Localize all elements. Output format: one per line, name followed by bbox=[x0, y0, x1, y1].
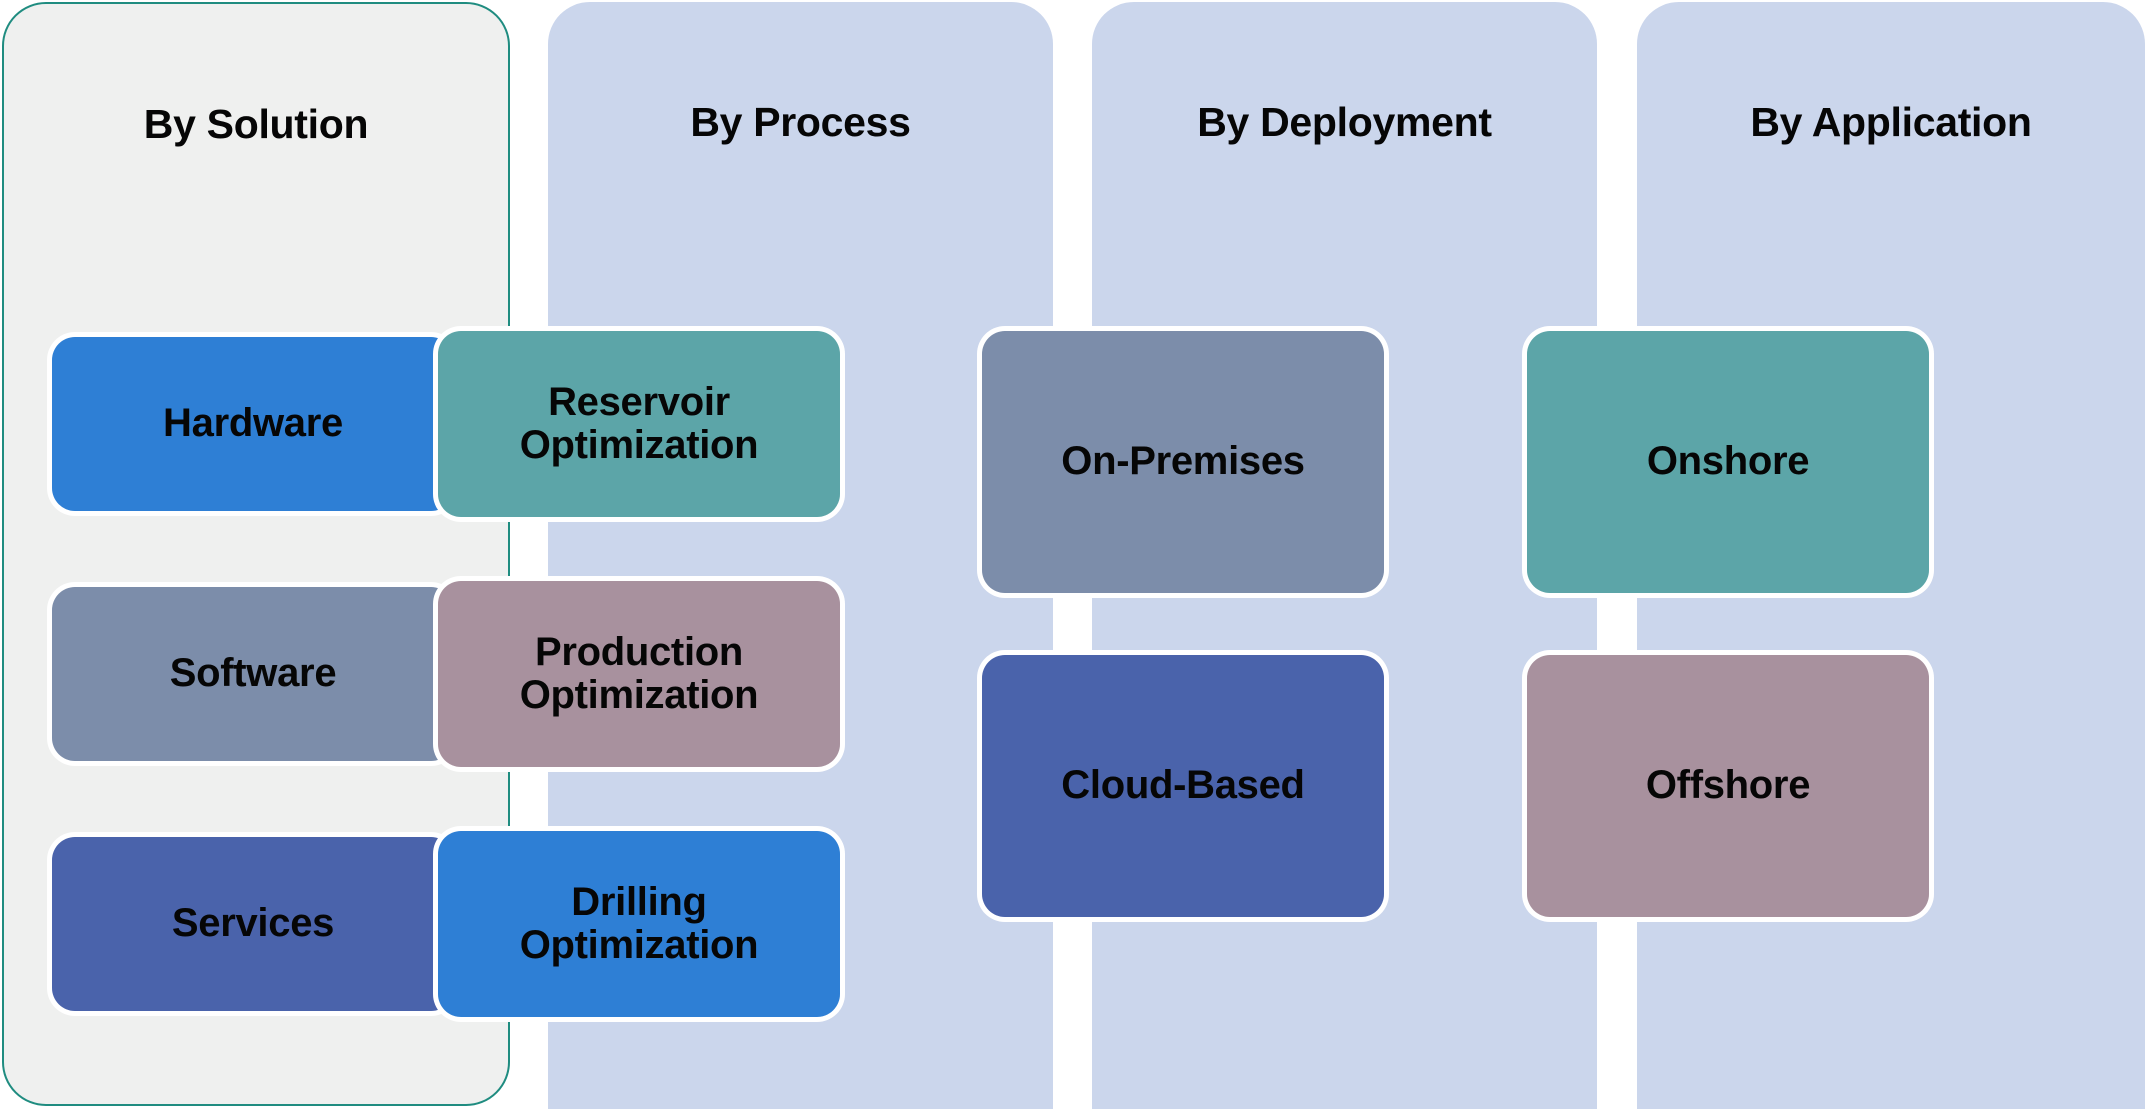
card-hardware[interactable]: Hardware bbox=[47, 332, 459, 516]
card-reservoir-optimization-fill: Reservoir Optimization bbox=[438, 331, 840, 517]
card-services-label: Services bbox=[172, 902, 334, 945]
card-cloud-based-fill: Cloud-Based bbox=[982, 655, 1384, 917]
card-drilling-optimization[interactable]: Drilling Optimization bbox=[433, 826, 845, 1022]
card-production-optimization-fill: Production Optimization bbox=[438, 581, 840, 767]
card-software-fill: Software bbox=[52, 587, 454, 761]
card-services-fill: Services bbox=[52, 837, 454, 1011]
card-hardware-label: Hardware bbox=[163, 402, 343, 445]
card-software-label: Software bbox=[170, 652, 337, 695]
card-production-optimization[interactable]: Production Optimization bbox=[433, 576, 845, 772]
card-on-premises-fill: On-Premises bbox=[982, 331, 1384, 593]
card-production-optimization-label: Production Optimization bbox=[520, 631, 759, 717]
column-title-by-deployment: By Deployment bbox=[1197, 102, 1492, 143]
column-title-by-application: By Application bbox=[1750, 102, 2031, 143]
column-title-by-process: By Process bbox=[690, 102, 910, 143]
card-reservoir-optimization-label: Reservoir Optimization bbox=[520, 381, 759, 467]
card-drilling-optimization-label: Drilling Optimization bbox=[520, 881, 759, 967]
card-offshore-fill: Offshore bbox=[1527, 655, 1929, 917]
card-onshore-fill: Onshore bbox=[1527, 331, 1929, 593]
card-offshore-label: Offshore bbox=[1646, 764, 1810, 807]
card-services[interactable]: Services bbox=[47, 832, 459, 1016]
card-cloud-based-label: Cloud-Based bbox=[1061, 764, 1304, 807]
card-reservoir-optimization[interactable]: Reservoir Optimization bbox=[433, 326, 845, 522]
card-onshore[interactable]: Onshore bbox=[1522, 326, 1934, 598]
card-cloud-based[interactable]: Cloud-Based bbox=[977, 650, 1389, 922]
card-drilling-optimization-fill: Drilling Optimization bbox=[438, 831, 840, 1017]
card-software[interactable]: Software bbox=[47, 582, 459, 766]
card-onshore-label: Onshore bbox=[1647, 440, 1809, 483]
card-on-premises[interactable]: On-Premises bbox=[977, 326, 1389, 598]
segmentation-diagram: By Solution Hardware Software Services B… bbox=[0, 0, 2145, 1109]
card-on-premises-label: On-Premises bbox=[1061, 440, 1304, 483]
card-offshore[interactable]: Offshore bbox=[1522, 650, 1934, 922]
card-hardware-fill: Hardware bbox=[52, 337, 454, 511]
column-title-by-solution: By Solution bbox=[144, 104, 368, 145]
